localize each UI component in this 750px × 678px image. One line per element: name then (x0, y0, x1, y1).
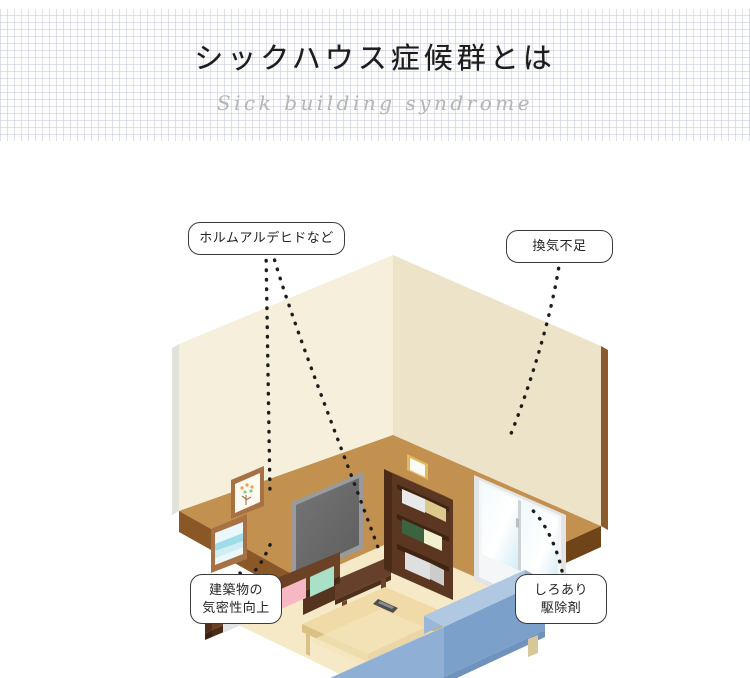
callout-airtight[interactable]: 建築物の 気密性向上 (190, 574, 282, 624)
wall-right-edge (601, 346, 608, 530)
page-title: シックハウス症候群とは (0, 35, 750, 77)
callout-termite[interactable]: しろあり 駆除剤 (515, 574, 607, 624)
wall-left-edge (172, 344, 179, 515)
isometric-room-illustration (0, 143, 750, 678)
callout-ventilation[interactable]: 換気不足 (506, 230, 613, 263)
window-latch (516, 518, 519, 528)
callout-formaldehyde[interactable]: ホルムアルデヒドなど (188, 222, 345, 255)
header-text-block: シックハウス症候群とは Sick building syndrome (0, 35, 750, 115)
page-header: シックハウス症候群とは Sick building syndrome (0, 0, 750, 143)
page-root: シックハウス症候群とは Sick building syndrome (0, 0, 750, 678)
page-subtitle: Sick building syndrome (0, 91, 750, 115)
illustration-stage (0, 143, 750, 678)
